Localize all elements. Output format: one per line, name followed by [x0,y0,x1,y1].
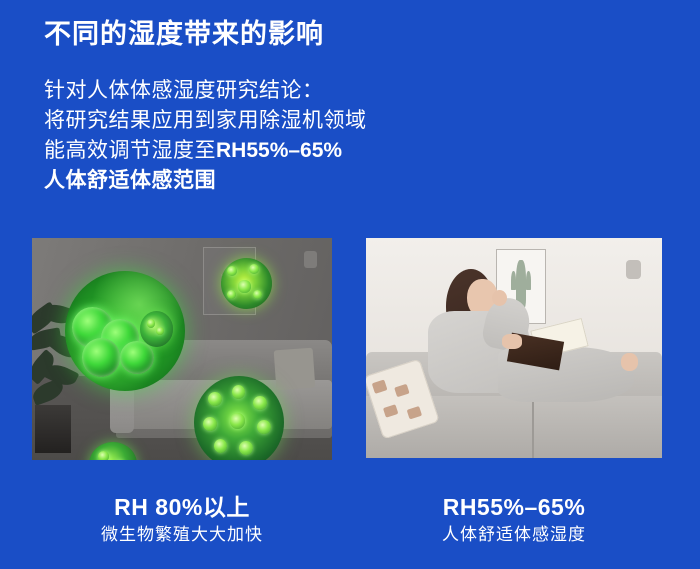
body-line-2: 将研究结果应用到家用除湿机领域 [44,106,367,136]
plant-pot [35,405,71,454]
body-copy: 针对人体体感湿度研究结论： 将研究结果应用到家用除湿机领域 能高效调节湿度至RH… [44,76,367,196]
wall-switch-icon [304,251,317,268]
page-title: 不同的湿度带来的影响 [44,18,324,52]
bright-room-scene [366,238,662,458]
woman-reading [419,269,638,432]
caption-right-title: RH55%–65% [366,492,662,522]
photo-left-microbes [32,238,332,460]
caption-left-title: RH 80%以上 [32,492,332,522]
body-line-1: 针对人体体感湿度研究结论： [44,76,367,106]
hand-at-head [492,290,507,306]
microbe-mid-icon [140,311,173,347]
microbe-bottom-icon [194,376,284,460]
body-line-4: 人体舒适体感范围 [44,166,367,196]
caption-right-sub: 人体舒适体感湿度 [366,522,662,548]
photo-right-woman-reading [366,238,662,458]
microbe-small-top-icon [221,258,272,309]
caption-left: RH 80%以上 微生物繁殖大大加快 [32,492,332,548]
hand-holding-book [502,334,522,349]
foot [621,353,639,371]
caption-right: RH55%–65% 人体舒适体感湿度 [366,492,662,548]
comparison-panels [0,238,700,462]
humidity-range-emphasis: RH55%–65% [216,139,342,162]
caption-left-sub: 微生物繁殖大大加快 [32,522,332,548]
poster-root: 不同的湿度带来的影响 针对人体体感湿度研究结论： 将研究结果应用到家用除湿机领域… [0,0,700,569]
sofa-cushion [274,348,316,391]
dark-room-scene [32,238,332,460]
body-line-3: 能高效调节湿度至RH55%–65% [44,136,367,166]
body-line-3-prefix: 能高效调节湿度至 [44,139,216,162]
